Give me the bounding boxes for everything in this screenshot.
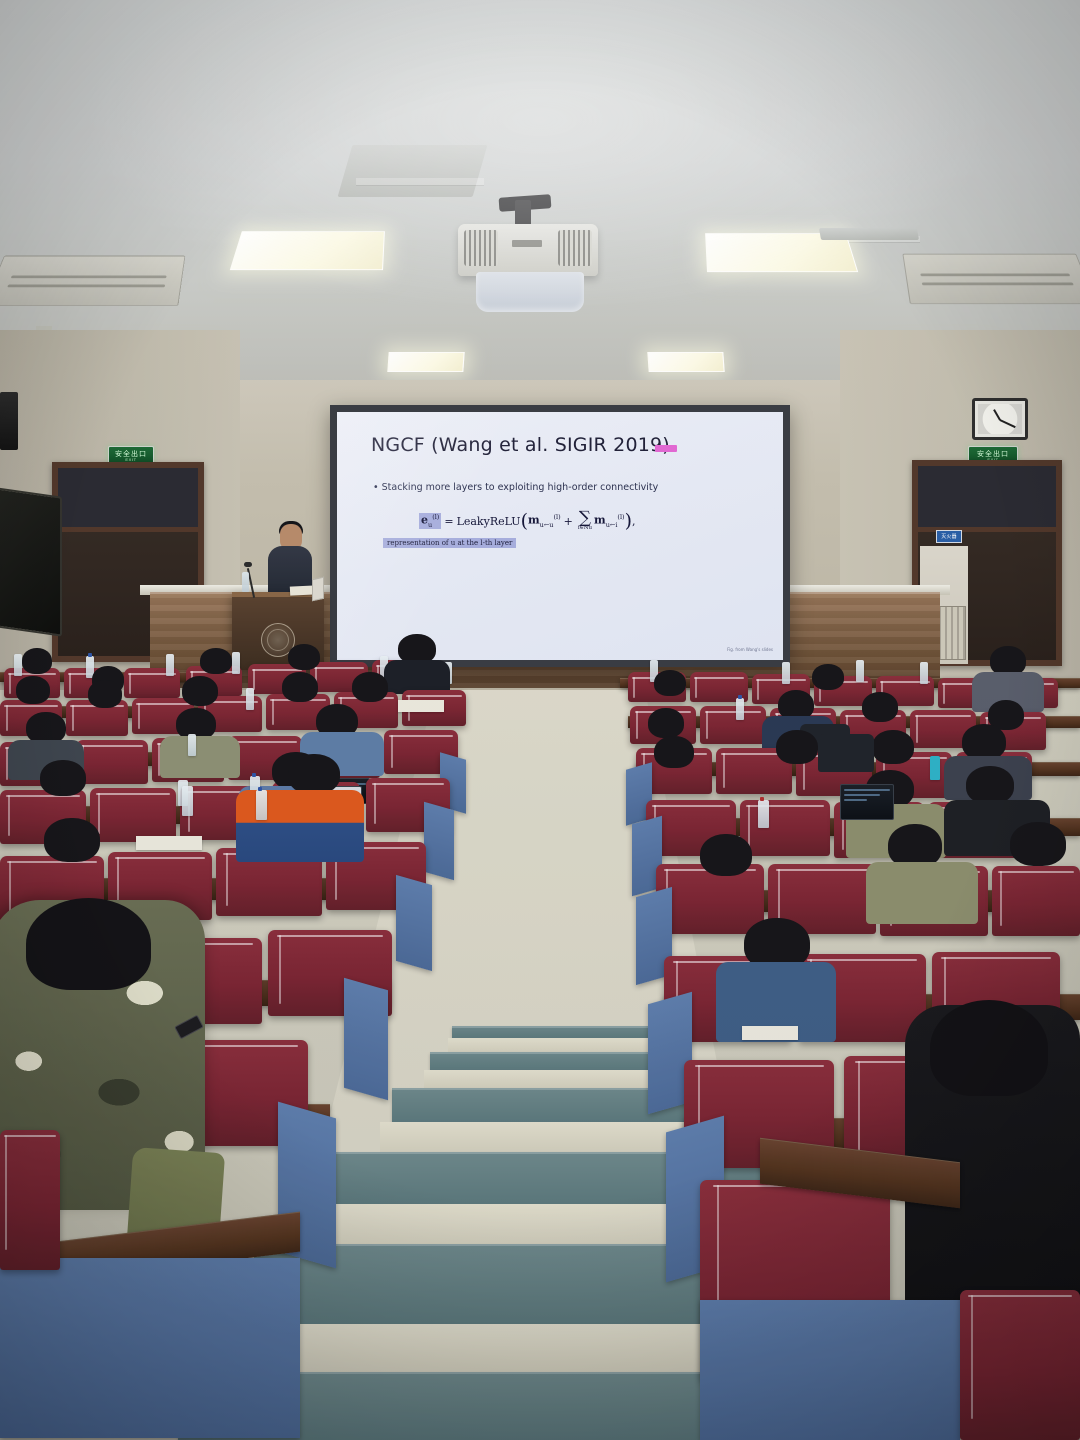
seat [0,1130,60,1270]
audience-head [288,644,320,670]
audience-head [1010,822,1066,866]
audience-head [40,760,86,796]
seat [960,1290,1080,1440]
projection-screen-frame: NGCF (Wang et al. SIGIR 2019) • Stacking… [330,405,790,667]
audience-head [352,672,388,702]
slide-bullet-text: • Stacking more layers to exploiting hig… [373,482,658,493]
formula-term2-base: m [594,514,606,527]
formula-lhs: eu(l) [419,513,441,529]
presentation-slide: NGCF (Wang et al. SIGIR 2019) • Stacking… [337,412,783,660]
clock-face [978,404,1022,434]
audience-head [966,766,1014,804]
projector-mount-pole [515,200,531,230]
audience-head [648,708,684,738]
clock-minute-hand [1000,419,1016,428]
water-bottle [256,790,267,820]
slide-formula: eu(l) = LeakyReLU ( mu←u(l) + ∑ i∈Nu mu←… [419,510,635,532]
projector [458,224,598,276]
exit-sign-left-en: EXIT [125,458,136,462]
slide-credit: Fig. from Wang's slides [727,647,773,652]
ceiling-duct [819,228,919,240]
aisle-step-riser [424,1070,676,1088]
water-bottle [736,698,744,720]
formula-plus: + [564,515,573,528]
seat [740,800,830,856]
aisle-step-riser [448,1038,654,1052]
notebook [742,1026,798,1040]
formula-function: LeakyReLU [457,515,521,528]
ceiling-beam [356,178,484,185]
water-bottle [856,660,864,682]
door-right-transom [918,466,1056,532]
water-bottle [930,756,940,780]
formula-lhs-base: e [421,514,428,527]
ceiling-duct [338,145,488,197]
formula-term2-sub: u←i [606,521,618,529]
formula-term2-sup: (l) [617,513,624,521]
formula-summation: ∑ i∈Nu [578,511,592,531]
air-conditioner-vent [902,254,1080,304]
lecture-hall-photo: 安全出口 EXIT 安全出口 EXIT 灭火器 NGCF (Wang et al… [0,0,1080,1440]
water-bottle [188,734,196,756]
water-bottle [166,654,174,676]
formula-close-paren: ) [625,510,632,532]
formula-lhs-sup: (l) [432,513,439,521]
notebook [136,836,202,850]
audience-head [962,724,1006,760]
formula-term2: mu←i(l) [594,513,625,529]
foreground-student-dark-shirt-head [930,1000,1048,1096]
formula-trailing-comma: , [632,515,636,528]
seat-side-panel [700,1300,960,1440]
projector-mount-arm [499,194,552,212]
ceiling-beam [820,236,920,242]
audience-head [700,834,752,876]
laptop [840,784,894,820]
ceiling-light-panel [705,233,858,272]
formula-term1-base: m [528,514,540,527]
audience-head [288,754,340,794]
wall-speaker [0,392,18,450]
formula-term1-sub: u←u [540,521,554,529]
audience-head [16,676,50,704]
slide-title: NGCF (Wang et al. SIGIR 2019) [371,434,670,456]
ceiling-light-panel [230,231,385,270]
audience-head [200,648,232,674]
audience-body [384,660,450,694]
projector-vent-left [464,230,498,266]
audience-body [160,736,240,778]
ceiling-light-panel [647,352,724,372]
water-bottle [920,662,928,684]
seat-side-panel [0,1258,300,1438]
fire-extinguisher-sign: 灭火器 [936,530,962,543]
aisle-step [452,1026,648,1038]
seat-side-panel [424,802,454,881]
seat [76,740,148,784]
audience-head [872,730,914,764]
podium-water-bottle [242,572,249,592]
audience-head [862,692,898,722]
foreground-student-head [26,898,151,990]
projector-lens-housing [476,272,584,312]
audience-head [812,664,844,690]
water-bottle [758,800,769,828]
formula-lhs-sub: u [428,521,432,529]
seat [90,788,176,842]
audience-head [282,672,318,702]
seat [656,864,764,934]
water-bottle [232,652,240,674]
water-bottle [782,662,790,684]
microphone-head [244,562,252,567]
seat [992,866,1080,936]
door-left-transom [58,468,198,532]
formula-sigma-symbol: ∑ [579,512,591,526]
side-display-monitor [0,487,62,636]
water-bottle [246,688,254,710]
audience-head [44,818,100,862]
aisle-step [430,1052,668,1070]
audience-head [654,736,694,768]
wall-clock [972,398,1028,440]
formula-open-paren: ( [521,510,528,532]
audience-head [22,648,52,674]
formula-caption: representation of u at the l-th layer [383,538,516,548]
fire-extinguisher-sign-label: 灭火器 [941,533,957,540]
audience-head [654,670,686,696]
formula-term1-sup: (l) [553,513,560,521]
seat-side-panel [344,978,388,1101]
projector-vent-right [558,230,592,266]
water-bottle [182,786,193,816]
podium-laptop [312,577,324,602]
audience-head [182,676,218,706]
audience-head [88,680,122,708]
backpack [818,734,874,772]
projector-brand-label [512,240,542,247]
ceiling-light-panel [387,352,464,372]
audience-head [776,730,818,764]
seat [700,706,766,744]
air-conditioner-vent [0,256,185,306]
slide-title-accent-bar [655,445,677,452]
audience-body [866,862,978,924]
seat-side-panel [396,875,432,971]
notebook [398,700,444,712]
formula-equals: = [444,515,453,528]
water-bottle [14,654,22,676]
formula-term1: mu←u(l) [528,513,561,529]
